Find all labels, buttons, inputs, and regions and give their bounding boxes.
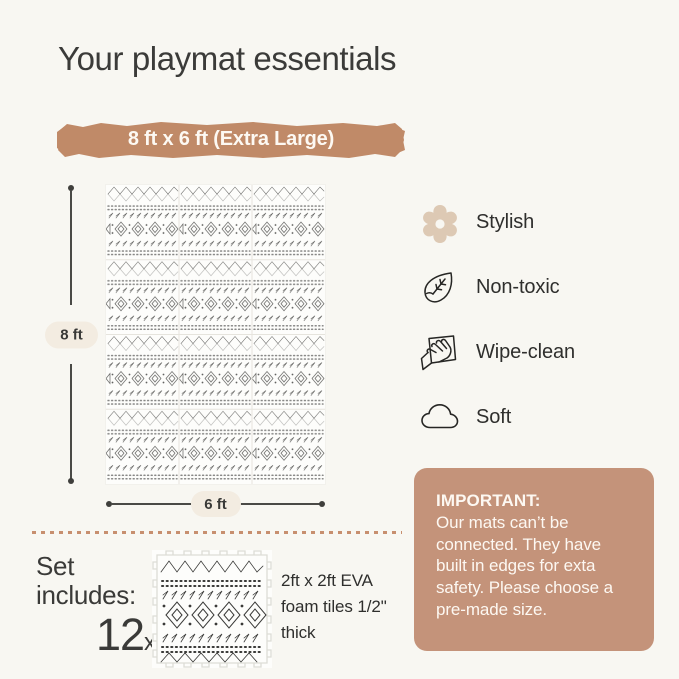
feature-item-non-toxic: Non-toxic <box>416 255 656 320</box>
set-includes-line-2: includes: <box>36 581 156 610</box>
dimension-line-left <box>111 503 191 505</box>
dimension-endpoint-bottom <box>68 478 74 484</box>
feature-label-wipe-clean: Wipe-clean <box>476 341 575 364</box>
dimension-line-top <box>70 190 72 305</box>
page-title: Your playmat essentials <box>58 40 396 78</box>
important-title: IMPORTANT: <box>436 490 634 512</box>
tile-description: 2ft x 2ft EVA foam tiles 1/2" thick <box>281 568 406 645</box>
single-tile-preview <box>152 550 272 668</box>
size-banner: 8 ft x 6 ft (Extra Large) <box>57 120 405 160</box>
single-tile-pattern <box>152 550 272 668</box>
flower-icon <box>416 199 464 247</box>
playmat-pattern <box>106 185 325 484</box>
feature-label-soft: Soft <box>476 406 511 429</box>
set-includes-block: Set includes: 12x <box>36 552 156 657</box>
playmat-preview <box>106 185 325 484</box>
mat-width-label: 6 ft <box>191 491 241 517</box>
dimension-line-bottom <box>70 364 72 479</box>
set-includes-line-1: Set <box>36 552 156 581</box>
feature-item-wipe-clean: Wipe-clean <box>416 320 656 385</box>
leaf-icon <box>416 264 464 312</box>
dimension-line-right <box>240 503 320 505</box>
important-body: Our mats can’t be connected. They have b… <box>436 512 634 621</box>
mat-width-dimension: 6 ft <box>106 503 325 505</box>
tile-count-number: 12 <box>96 609 144 660</box>
set-includes-count: 12x <box>36 612 156 657</box>
feature-list: Stylish Non-toxic <box>416 190 656 450</box>
mat-height-label: 8 ft <box>45 321 98 348</box>
infographic-page: Your playmat essentials 8 ft x 6 ft (Ext… <box>0 0 679 679</box>
cloud-icon <box>416 394 464 442</box>
section-divider <box>32 531 402 534</box>
mat-height-dimension: 8 ft <box>70 185 72 484</box>
dimension-endpoint-right <box>319 501 325 507</box>
feature-label-non-toxic: Non-toxic <box>476 276 560 299</box>
important-notice-box: IMPORTANT: Our mats can’t be connected. … <box>414 468 654 651</box>
feature-item-stylish: Stylish <box>416 190 656 255</box>
feature-item-soft: Soft <box>416 385 656 450</box>
wipe-cloth-icon <box>416 329 464 377</box>
size-banner-label: 8 ft x 6 ft (Extra Large) <box>57 120 405 160</box>
feature-label-stylish: Stylish <box>476 211 534 234</box>
